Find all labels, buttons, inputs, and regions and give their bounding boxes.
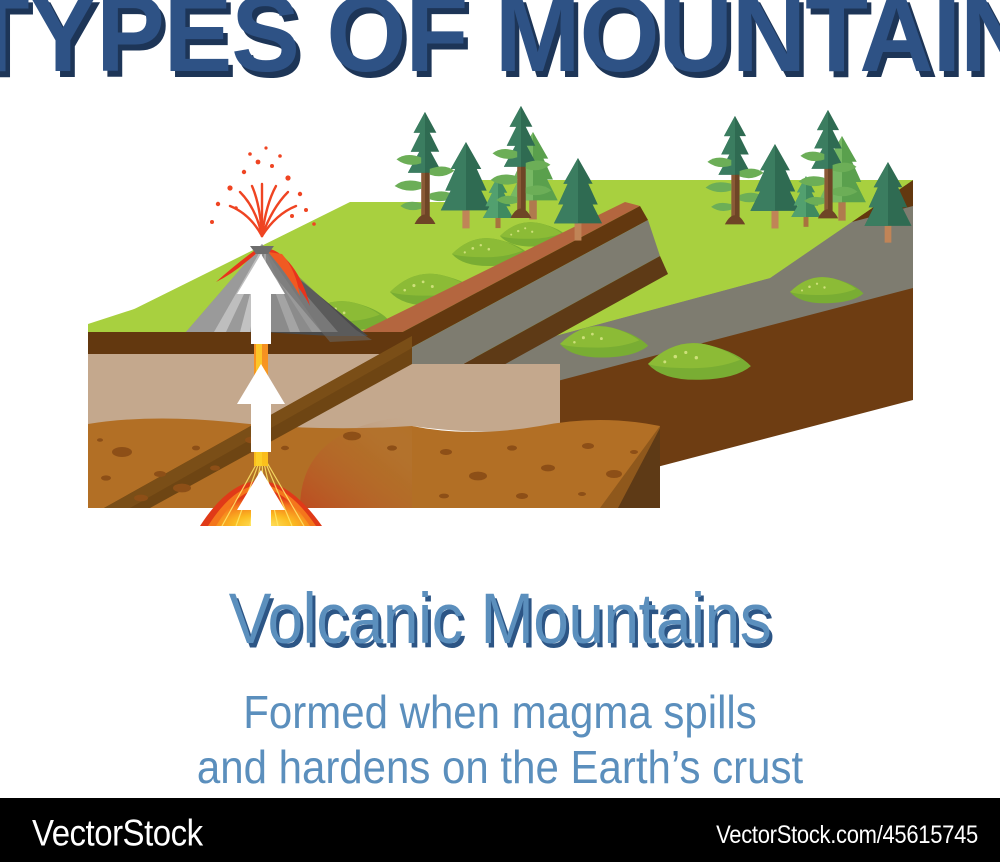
eruption-spray [230, 184, 296, 236]
vectorstock-logo: VectorStock [32, 812, 203, 855]
page-title: TYPES OF MOUNTAIN [24, 0, 976, 74]
illustration-container [0, 96, 1000, 526]
volcanic-mountain-diagram [0, 96, 1000, 526]
description-line-2: and hardens on the Earth’s crust [0, 737, 1000, 798]
vectorstock-url: VectorStock.com/45615745 [716, 820, 978, 850]
watermark-footer: VectorStock VectorStock.com/45615745 [0, 798, 1000, 862]
description-block: Formed when magma spills and hardens on … [0, 682, 1000, 792]
section-heading-text: Volcanic Mountains [229, 578, 771, 659]
section-heading: Volcanic Mountains [0, 578, 1000, 650]
title-banner: TYPES OF MOUNTAIN [0, 0, 1000, 80]
tree-group-left [395, 106, 602, 241]
cross-section-face [88, 332, 412, 508]
poster-canvas: TYPES OF MOUNTAIN [0, 0, 1000, 862]
description-line-1: Formed when magma spills [0, 682, 1000, 743]
page-title-text: TYPES OF MOUNTAIN [0, 0, 1000, 80]
